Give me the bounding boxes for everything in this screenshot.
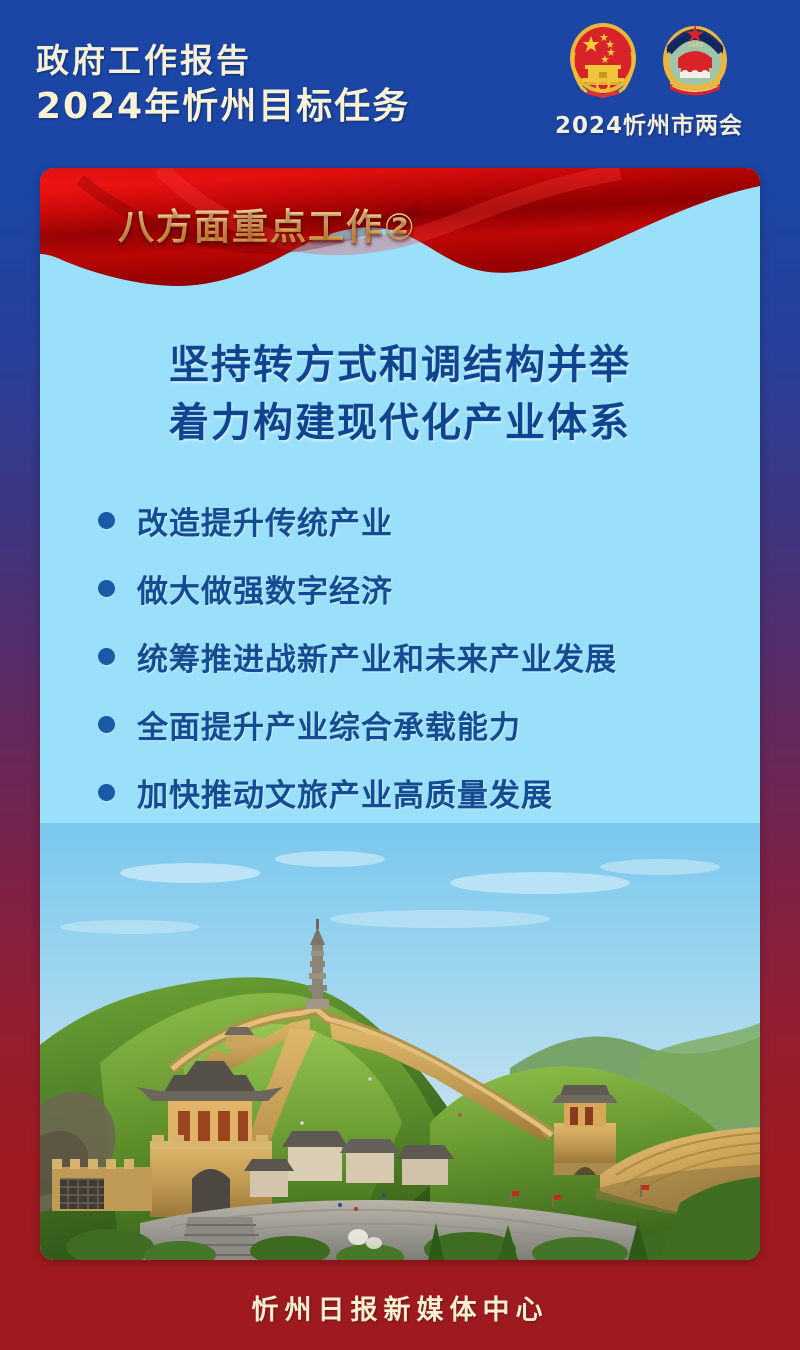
list-item-label: 做大做强数字经济 [137,566,393,611]
list-item: 做大做强数字经济 [98,558,758,618]
list-item-label: 统筹推进战新产业和未来产业发展 [137,634,617,679]
ribbon-title: 八方面重点工作② [118,198,416,250]
list-item-label: 加快推动文旅产业高质量发展 [137,770,553,815]
page-header: 政府工作报告 2024年忻州目标任务 [0,0,800,165]
list-item: 统筹推进战新产业和未来产业发展 [98,626,758,686]
key-tasks-list: 改造提升传统产业 做大做强数字经济 统筹推进战新产业和未来产业发展 全面提升产业… [98,490,758,830]
list-item-label: 全面提升产业综合承载能力 [137,702,521,747]
panel-headline: 坚持转方式和调结构并举 着力构建现代化产业体系 [40,336,760,453]
national-emblem-of-china-icon [566,22,640,100]
bullet-dot-icon [98,784,115,801]
scenery-photo-illustration [40,823,760,1260]
bullet-dot-icon [98,512,115,529]
bullet-dot-icon [98,580,115,597]
right-tower [552,1085,618,1175]
list-item-label: 改造提升传统产业 [137,498,393,543]
poster-root: 政府工作报告 2024年忻州目标任务 [0,0,800,1350]
page-footer: 忻州日报新媒体中心 [0,1288,800,1327]
emblem-row: 1949 [534,22,764,102]
page-title-line-1: 政府工作报告 [36,42,410,80]
page-title-line-2: 2024年忻州目标任务 [36,85,410,128]
bullet-dot-icon [98,648,115,665]
header-title-block: 政府工作报告 2024年忻州目标任务 [36,42,410,128]
list-item: 改造提升传统产业 [98,490,758,550]
ribbon-banner: 八方面重点工作② [40,168,760,296]
content-panel: 八方面重点工作② 坚持转方式和调结构并举 着力构建现代化产业体系 改造提升传统产… [40,168,760,1260]
emblem-block: 1949 2024忻州市两会 [534,22,764,140]
scenery-photo [40,823,760,1260]
bullet-dot-icon [98,716,115,733]
emblem-caption: 2024忻州市两会 [534,106,764,140]
footer-credit: 忻州日报新媒体中心 [0,1288,800,1327]
cppcc-emblem-icon: 1949 [658,22,732,100]
list-item: 加快推动文旅产业高质量发展 [98,762,758,822]
list-item: 全面提升产业综合承载能力 [98,694,758,754]
headline-line-2: 着力构建现代化产业体系 [40,394,760,452]
svg-text:1949: 1949 [687,42,703,49]
headline-line-1: 坚持转方式和调结构并举 [40,336,760,394]
